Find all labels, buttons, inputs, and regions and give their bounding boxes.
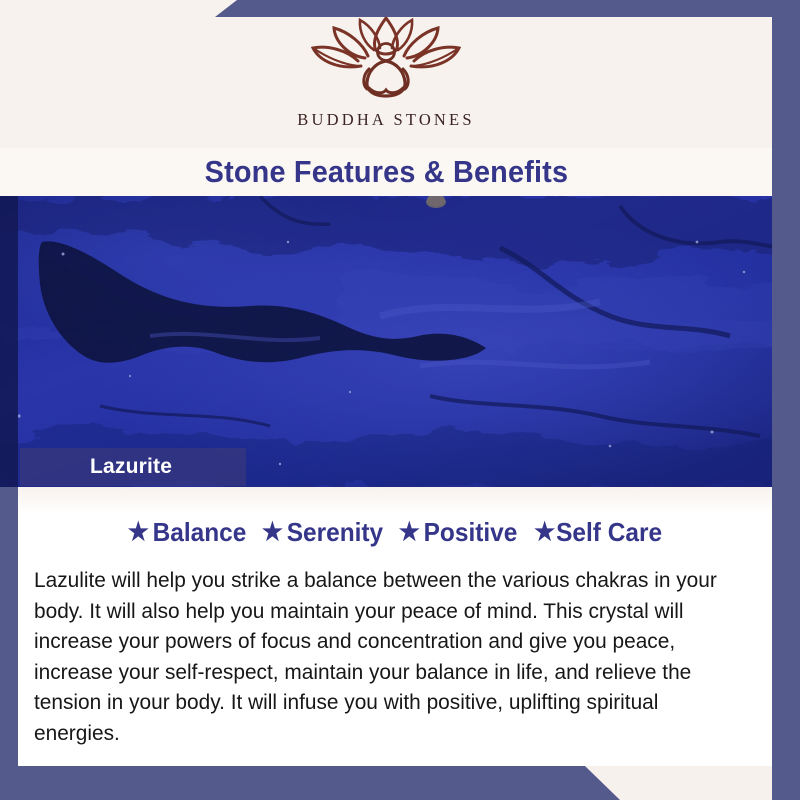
stone-photo	[0, 196, 800, 487]
benefit-label: Serenity	[287, 517, 383, 548]
page-title: Stone Features & Benefits	[204, 154, 568, 190]
frame-accent-right	[772, 0, 800, 800]
benefit-serenity: ★ Serenity	[262, 517, 383, 548]
stone-name-badge: Lazurite	[20, 448, 246, 486]
stone-name-label: Lazurite	[90, 455, 172, 479]
star-icon: ★	[534, 520, 555, 545]
brand-logo: BUDDHA STONES	[0, 14, 772, 130]
frame-accent-left	[0, 487, 18, 766]
benefit-balance: ★ Balance	[128, 517, 247, 548]
benefit-label: Self Care	[556, 517, 662, 548]
title-band: Stone Features & Benefits	[0, 148, 772, 196]
benefit-label: Balance	[153, 517, 247, 548]
frame-accent-top	[215, 0, 800, 17]
frame-accent-bottom	[0, 766, 620, 800]
header-section: BUDDHA STONES Stone Features & Benefits	[0, 0, 772, 196]
lotus-meditation-logo-icon	[301, 14, 471, 106]
benefits-row: ★ Balance ★ Serenity ★ Positive ★ Self C…	[18, 517, 772, 548]
benefit-self-care: ★ Self Care	[534, 517, 662, 548]
description-text: Lazulite will help you strike a balance …	[34, 565, 729, 748]
star-icon: ★	[128, 520, 149, 545]
benefit-label: Positive	[424, 517, 518, 548]
brand-name: BUDDHA STONES	[297, 110, 474, 130]
infographic-canvas: BUDDHA STONES Stone Features & Benefits	[0, 0, 800, 800]
card-top-fade	[18, 487, 772, 513]
stone-photo-image	[0, 196, 800, 487]
content-card: ★ Balance ★ Serenity ★ Positive ★ Self C…	[18, 487, 772, 766]
star-icon: ★	[262, 520, 283, 545]
benefit-positive: ★ Positive	[399, 517, 518, 548]
star-icon: ★	[399, 520, 420, 545]
